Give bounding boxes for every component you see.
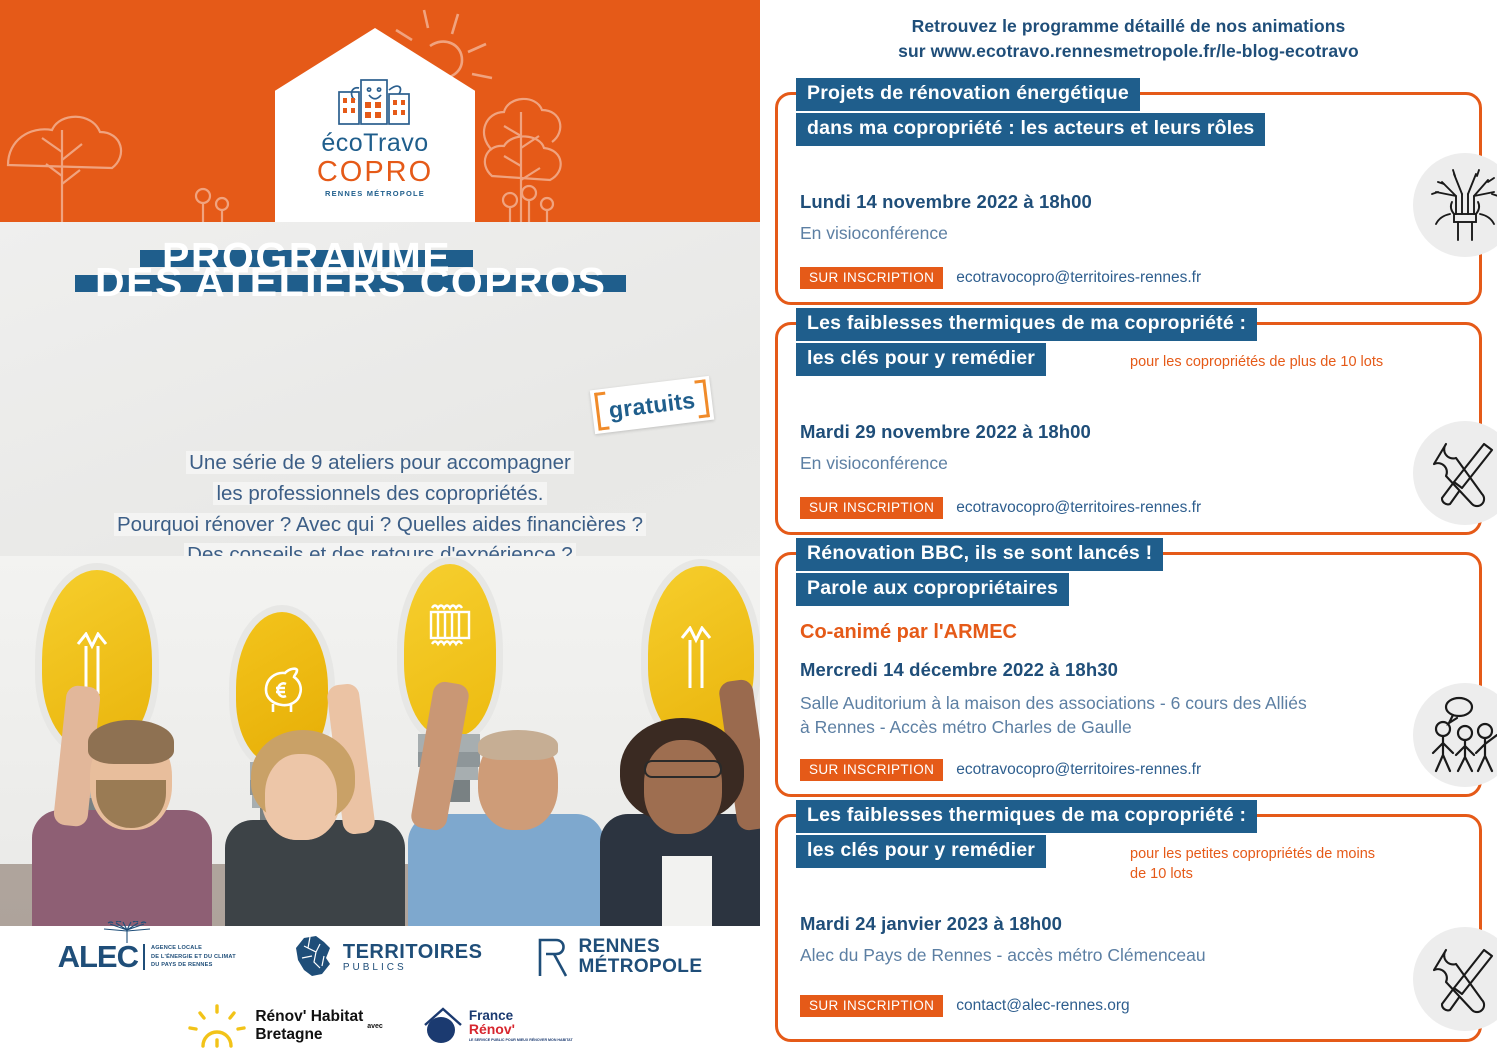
hands-together-icon [1413, 153, 1497, 257]
person-4 [596, 680, 760, 926]
renov-habitat-line2: Bretagne [255, 1026, 363, 1044]
headline-line-2: sur www.ecotravo.rennesmetropole.fr/le-b… [760, 39, 1497, 64]
event-card-2-datetime: Mardi 29 novembre 2022 à 18h00 [800, 421, 1091, 443]
registration-badge: SUR INSCRIPTION [800, 995, 943, 1017]
event-card-2-title-line1: Les faiblesses thermiques de ma copropri… [796, 308, 1257, 341]
rennes-metropole-line2: MÉTROPOLE [578, 957, 702, 977]
event-card-4-location: Alec du Pays de Rennes - accès métro Clé… [800, 943, 1206, 967]
france-renov-tagline: LE SERVICE PUBLIC POUR MIEUX RÉNOVER MON… [469, 1038, 573, 1043]
house-dot-icon [421, 1005, 465, 1047]
event-card-4-note: pour les petites copropriétés de moins d… [1130, 845, 1430, 884]
event-card-4-email[interactable]: contact@alec-rennes.org [956, 997, 1129, 1015]
house-logo-icon [329, 76, 421, 128]
alec-subtitle: AGENCE LOCALE DE L'ÉNERGIE ET DU CLIMAT … [143, 944, 236, 970]
footer-logo-row-2: Rénov' Habitat Bretagne avec France Réno… [0, 1002, 760, 1050]
poster-footer-logos: ALEC AGENCE LOCALE DE L'ÉNERGIE ET DU CL… [0, 926, 760, 1058]
alec-logo: ALEC AGENCE LOCALE DE L'ÉNERGIE ET DU CL… [58, 939, 236, 975]
person-3-torso [408, 814, 604, 926]
rm-monogram-icon [536, 936, 570, 978]
ecotravo-copro-logo: écoTravo COPRO RENNES MÉTROPOLE [275, 28, 475, 224]
event-card-1-title-line2: dans ma copropriété : les acteurs et leu… [796, 113, 1265, 146]
headline-line-1: Retrouvez le programme détaillé de nos a… [760, 14, 1497, 39]
event-card-2-title-line2: les clés pour y remédier [796, 343, 1046, 376]
intro-line-3: Pourquoi rénover ? Avec qui ? Quelles ai… [114, 513, 646, 536]
person-3-arm [409, 680, 470, 832]
event-card-1-email[interactable]: ecotravocopro@territoires-rennes.fr [956, 269, 1201, 287]
alec-sub-line-2: DE L'ÉNERGIE ET DU CLIMAT [151, 953, 236, 962]
territoires-subtitle: PUBLICS [343, 962, 483, 973]
alec-wordmark: ALEC [58, 939, 138, 975]
person-1 [20, 686, 220, 926]
poster-page: écoTravo COPRO RENNES MÉTROPOLE PROGRAMM… [0, 0, 1497, 1058]
registration-badge: SUR INSCRIPTION [800, 267, 943, 289]
event-card-1[interactable]: Projets de rénovation énergétique dans m… [775, 92, 1482, 305]
intro-line-2: les professionnels des copropriétés. [213, 482, 546, 505]
event-card-3-email[interactable]: ecotravocopro@territoires-rennes.fr [956, 761, 1201, 779]
radiator-icon [426, 602, 476, 654]
person-2-face [265, 754, 337, 840]
event-card-3-location: Salle Auditorium à la maison des associa… [800, 691, 1307, 739]
france-renov-logo: France Rénov' LE SERVICE PUBLIC POUR MIE… [421, 1005, 573, 1047]
dandelion-icon [90, 921, 164, 943]
france-renov-line2: Rénov' [469, 1022, 573, 1036]
rennes-metropole-line1: RENNES [578, 937, 702, 957]
event-card-3-datetime: Mercredi 14 décembre 2022 à 18h30 [800, 659, 1118, 681]
event-card-1-location: En visioconférence [800, 221, 948, 245]
event-card-2-location: En visioconférence [800, 451, 948, 475]
sunrise-icon [187, 1002, 247, 1050]
territoires-publics-logo: TERRITOIRES PUBLICS [290, 934, 483, 980]
event-card-3-title-line2: Parole aux copropriétaires [796, 573, 1069, 606]
event-card-2-registration[interactable]: SUR INSCRIPTION ecotravocopro@territoire… [800, 497, 1201, 519]
france-renov-line1: France [469, 1009, 573, 1023]
rennes-metropole-logo: RENNES MÉTROPOLE [536, 936, 702, 978]
map-shape-icon [290, 934, 336, 980]
person-3-hair [478, 730, 558, 760]
event-card-1-registration[interactable]: SUR INSCRIPTION ecotravocopro@territoire… [800, 267, 1201, 289]
event-card-3[interactable]: Rénovation BBC, ils se sont lancés ! Par… [775, 552, 1482, 797]
alec-sub-line-1: AGENCE LOCALE [151, 944, 236, 953]
event-card-2-note: pour les copropriétés de plus de 10 lots [1130, 353, 1460, 373]
person-4-shirt [662, 856, 712, 926]
people-speech-bubble-icon [1413, 683, 1497, 787]
event-card-3-coanimation: Co-animé par l'ARMEC [800, 621, 1017, 644]
event-card-4[interactable]: Les faiblesses thermiques de ma copropri… [775, 814, 1482, 1042]
person-4-head [644, 740, 722, 834]
logo-copro-text: COPRO [317, 157, 433, 187]
event-card-2[interactable]: Les faiblesses thermiques de ma copropri… [775, 322, 1482, 535]
tools-wrench-screwdriver-icon [1413, 927, 1497, 1031]
event-card-1-datetime: Lundi 14 novembre 2022 à 18h00 [800, 191, 1092, 213]
registration-badge: SUR INSCRIPTION [800, 759, 943, 781]
event-card-3-title-line1: Rénovation BBC, ils se sont lancés ! [796, 538, 1163, 571]
person-2 [215, 686, 415, 926]
intro-line-1: Une série de 9 ateliers pour accompagner [186, 451, 574, 474]
logo-ecotravo-text: écoTravo [321, 131, 428, 156]
territoires-wordmark: TERRITOIRES [343, 942, 483, 962]
tools-wrench-screwdriver-icon [1413, 421, 1497, 525]
event-card-4-title-line1: Les faiblesses thermiques de ma copropri… [796, 800, 1257, 833]
alec-sub-line-3: DU PAYS DE RENNES [151, 961, 236, 970]
left-poster: écoTravo COPRO RENNES MÉTROPOLE PROGRAMM… [0, 0, 760, 1058]
person-4-glasses [644, 760, 722, 778]
programme-headline: Retrouvez le programme détaillé de nos a… [760, 14, 1497, 64]
renov-habitat-bretagne-logo: Rénov' Habitat Bretagne avec [187, 1002, 386, 1050]
event-card-4-title-line2: les clés pour y remédier [796, 835, 1046, 868]
event-card-4-registration[interactable]: SUR INSCRIPTION contact@alec-rennes.org [800, 995, 1130, 1017]
registration-badge: SUR INSCRIPTION [800, 497, 943, 519]
gratuits-badge-label: gratuits [607, 386, 696, 423]
event-card-1-title-line1: Projets de rénovation énergétique [796, 78, 1140, 111]
poster-photo [0, 556, 760, 926]
renov-habitat-avec: avec [367, 1023, 383, 1030]
logo-rennes-metropole-text: RENNES MÉTROPOLE [325, 189, 425, 198]
event-card-3-registration[interactable]: SUR INSCRIPTION ecotravocopro@territoire… [800, 759, 1201, 781]
person-1-hair [88, 720, 174, 764]
poster-intro-text: Une série de 9 ateliers pour accompagner… [0, 448, 760, 571]
right-column: Retrouvez le programme détaillé de nos a… [760, 0, 1497, 1058]
footer-logo-row-1: ALEC AGENCE LOCALE DE L'ÉNERGIE ET DU CL… [0, 934, 760, 980]
renov-habitat-line1: Rénov' Habitat [255, 1008, 363, 1026]
person-3 [400, 682, 610, 926]
page-title-line2: DES ATELIERS COPROS [75, 275, 626, 292]
event-card-2-email[interactable]: ecotravocopro@territoires-rennes.fr [956, 499, 1201, 517]
event-card-4-datetime: Mardi 24 janvier 2023 à 18h00 [800, 913, 1062, 935]
poster-title-block: PROGRAMME DES ATELIERS COPROS [0, 250, 760, 292]
